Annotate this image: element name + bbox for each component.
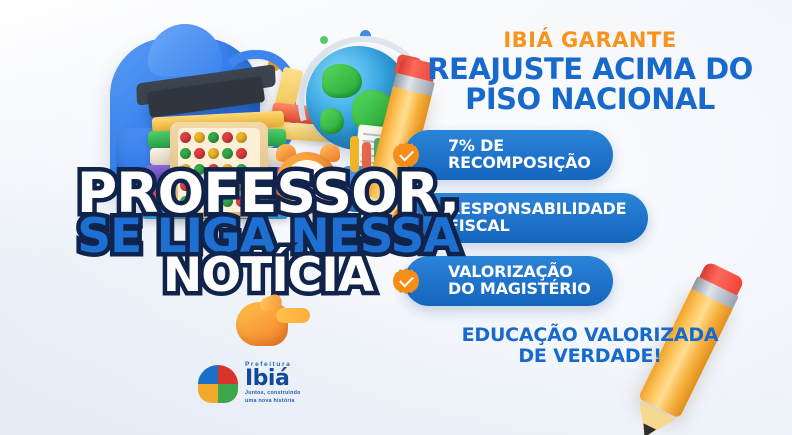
logo-name: Ibiá (245, 369, 301, 390)
poster-canvas: PROFESSOR, SE LIGA NESSA NOTÍCIA Prefeit… (0, 0, 792, 435)
logo-tagline-1: Juntos, construindo (245, 390, 301, 397)
title-line-2: PISO NACIONAL (404, 85, 776, 115)
logo-tagline-2: uma nova história (245, 398, 301, 405)
closing-line-2: DE VERDADE! (404, 346, 776, 367)
main-title: REAJUSTE ACIMA DO PISO NACIONAL (404, 55, 776, 114)
kicker-text: IBIÁ GARANTE (404, 28, 776, 52)
title-line-1: REAJUSTE ACIMA DO (404, 55, 776, 85)
closing-line-1: EDUCAÇÃO VALORIZADA (404, 325, 776, 346)
backpack-top-handle (148, 24, 222, 76)
heart-quadrant-icon (198, 365, 238, 403)
closing-statement: EDUCAÇÃO VALORIZADA DE VERDADE! (404, 325, 776, 367)
prefeitura-ibia-logo: Prefeitura Ibiá Juntos, construindo uma … (198, 362, 301, 405)
logo-text-block: Prefeitura Ibiá Juntos, construindo uma … (245, 362, 301, 405)
pointing-hand-icon (236, 292, 312, 350)
main-headline: PROFESSOR, SE LIGA NESSA NOTÍCIA (58, 168, 478, 297)
decor-dot-green (320, 36, 328, 44)
